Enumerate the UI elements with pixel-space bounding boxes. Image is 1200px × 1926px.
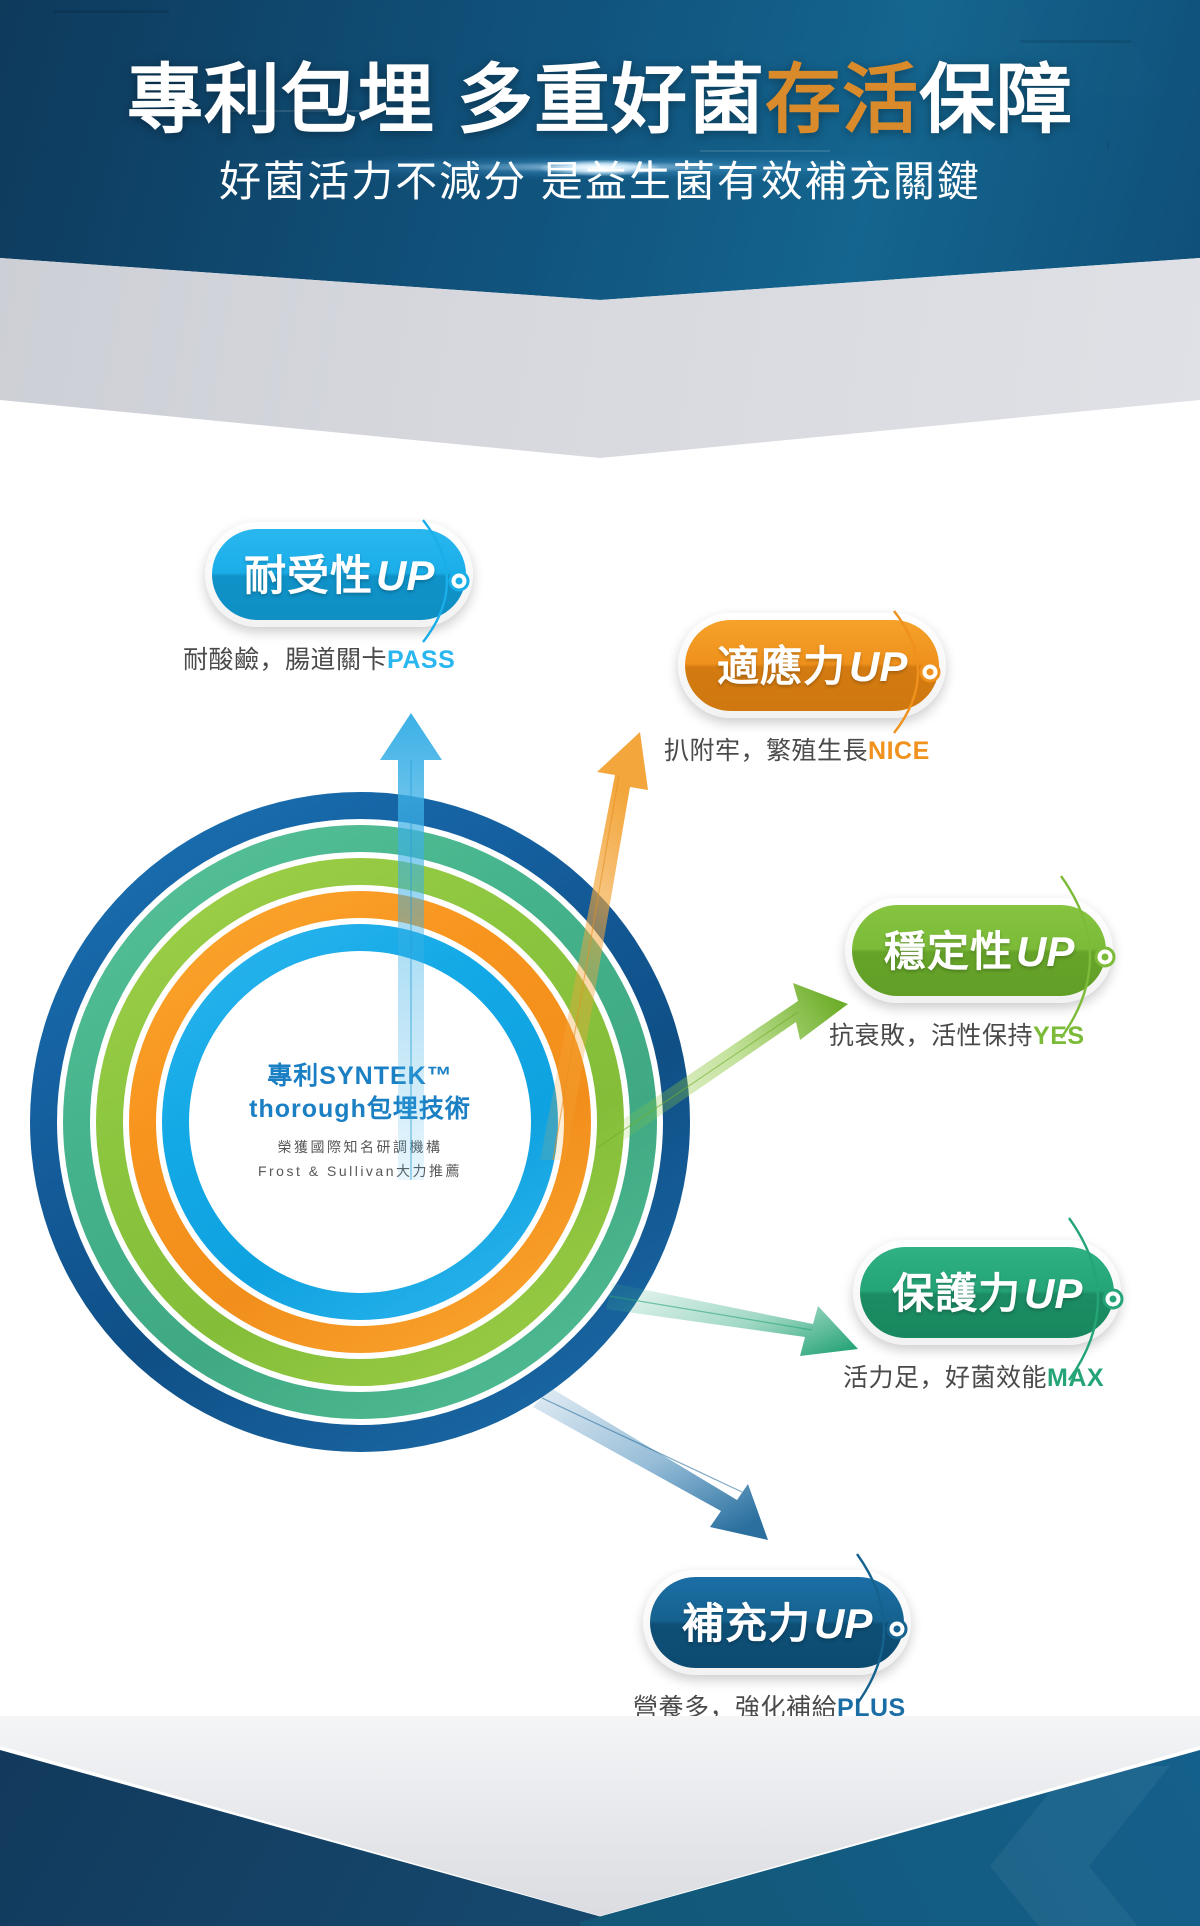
badge-caption-stability: 抗衰敗，活性保持YES xyxy=(829,1016,1113,1052)
title-accent: 存活 xyxy=(765,58,919,143)
badge-pill-stability[interactable]: 穩定性UP xyxy=(852,905,1106,996)
badge-pill-supplement[interactable]: 補充力UP xyxy=(650,1577,904,1668)
badge-label-protection: 保護力UP xyxy=(892,1260,1082,1321)
badge-label-supplement: 補充力UP xyxy=(682,1590,872,1651)
badge-pill-tolerance[interactable]: 耐受性UP xyxy=(212,529,466,620)
footer-chevron-band xyxy=(0,1716,1200,1926)
badge-up-label: UP xyxy=(849,643,907,690)
title-part-1: 專利包埋 多重好菌 xyxy=(127,58,765,143)
badge-pill-protection[interactable]: 保護力UP xyxy=(860,1247,1114,1338)
badge-group-supplement[interactable]: 補充力UP 營養多，強化補給PLUS xyxy=(643,1570,911,1724)
badge-caption-protection: 活力足，好菌效能MAX xyxy=(843,1358,1121,1394)
badge-group-tolerance[interactable]: 耐受性UP 耐酸鹼，腸道關卡PASS xyxy=(205,522,473,676)
badge-group-adaptability[interactable]: 適應力UP 扒附牢，繁殖生長NICE xyxy=(678,613,946,767)
badge-pill-shell-tolerance[interactable]: 耐受性UP xyxy=(205,522,473,627)
concentric-rings-diagram: 專利SYNTEK™ thorough包埋技術 榮獲國際知名研調機構 Frost … xyxy=(30,792,690,1452)
badge-caption-keyword: PASS xyxy=(387,646,455,674)
center-title-line-1: 專利SYNTEK™ xyxy=(267,1060,452,1093)
badge-group-protection[interactable]: 保護力UP 活力足，好菌效能MAX xyxy=(853,1240,1121,1394)
badge-pill-adaptability[interactable]: 適應力UP xyxy=(685,620,939,711)
badge-group-stability[interactable]: 穩定性UP 抗衰敗，活性保持YES xyxy=(845,898,1113,1052)
badge-pill-shell-stability[interactable]: 穩定性UP xyxy=(845,898,1113,1003)
center-sub-line-2: Frost & Sullivan大力推薦 xyxy=(258,1160,462,1184)
badge-pill-shell-adaptability[interactable]: 適應力UP xyxy=(678,613,946,718)
badge-caption-adaptability: 扒附牢，繁殖生長NICE xyxy=(664,731,946,767)
badge-label-tolerance: 耐受性UP xyxy=(244,542,434,603)
badge-up-label: UP xyxy=(1016,928,1074,975)
badge-pill-shell-supplement[interactable]: 補充力UP xyxy=(643,1570,911,1675)
badge-caption-keyword: YES xyxy=(1033,1022,1085,1050)
center-sub-line-1: 榮獲國際知名研調機構 xyxy=(278,1136,443,1160)
badge-caption-keyword: MAX xyxy=(1047,1364,1104,1392)
page-subtitle: 好菌活力不減分 是益生菌有效補充關鍵 xyxy=(0,148,1200,209)
header-banner: 專利包埋 多重好菌存活保障 好菌活力不減分 是益生菌有效補充關鍵 xyxy=(0,0,1200,300)
badge-up-label: UP xyxy=(814,1600,872,1647)
title-part-2: 保障 xyxy=(919,58,1073,143)
ring-center-content: 專利SYNTEK™ thorough包埋技術 榮獲國際知名研調機構 Frost … xyxy=(189,951,531,1293)
page-title: 專利包埋 多重好菌存活保障 xyxy=(0,38,1200,148)
badge-pill-shell-protection[interactable]: 保護力UP xyxy=(853,1240,1121,1345)
badge-label-stability: 穩定性UP xyxy=(884,918,1074,979)
badge-caption-tolerance: 耐酸鹼，腸道關卡PASS xyxy=(183,640,473,676)
center-title-line-2: thorough包埋技術 xyxy=(249,1093,471,1126)
badge-up-label: UP xyxy=(376,552,434,599)
badge-up-label: UP xyxy=(1024,1270,1082,1317)
badge-label-adaptability: 適應力UP xyxy=(717,633,907,694)
badge-caption-keyword: NICE xyxy=(868,737,930,765)
